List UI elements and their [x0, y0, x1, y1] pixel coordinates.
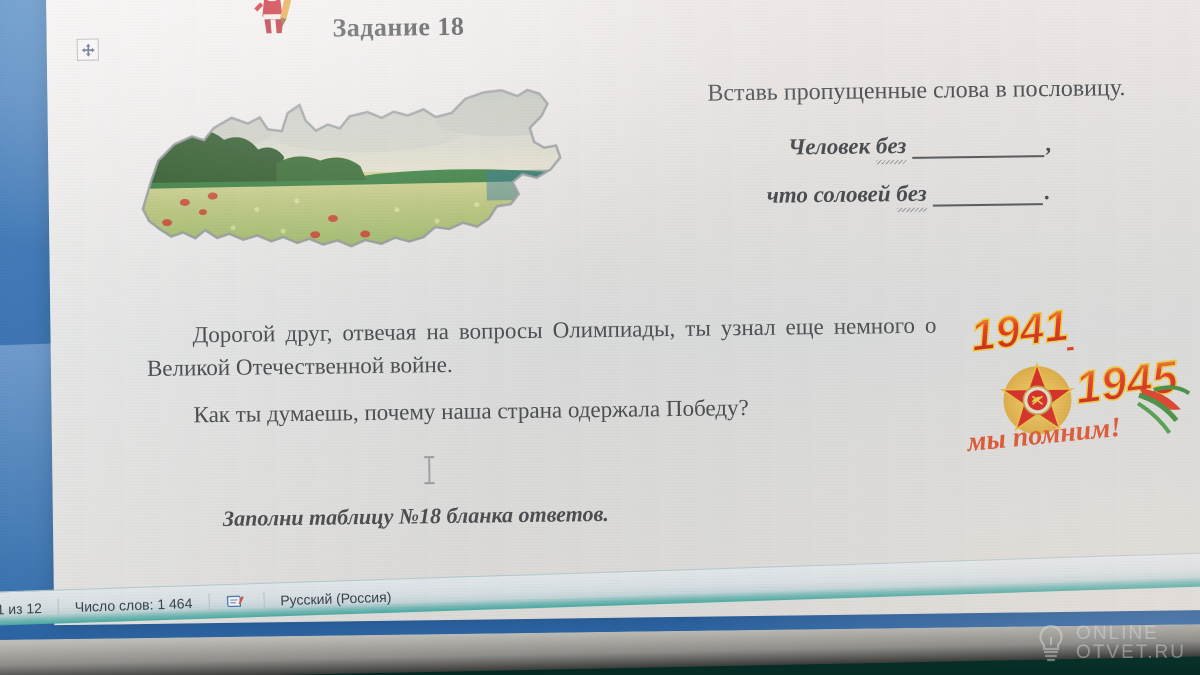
watermark: ONLINE OTVET.RU — [1034, 623, 1186, 663]
document-content: №17 бланка ответов. — [45, 0, 1200, 569]
proverb-line-2-prefix: что соловей — [767, 181, 891, 209]
watermark-text: ONLINE OTVET.RU — [1076, 624, 1186, 663]
proofing-status[interactable] — [209, 584, 264, 619]
language-indicator[interactable]: Русский (Россия) — [264, 579, 408, 617]
red-ant-with-pencil-icon — [242, 0, 307, 41]
proverb-blank-1[interactable] — [912, 140, 1044, 159]
spelling-check-icon — [225, 592, 248, 611]
proverb-line-2-word: без — [896, 181, 927, 207]
monitor-screen: №17 бланка ответов. — [0, 0, 1200, 640]
watermark-line-1: ONLINE — [1076, 624, 1186, 643]
page-title: Задание 18 — [332, 12, 464, 44]
proverb-line-1: Человек без , — [708, 129, 1200, 162]
watermark-line-2: OTVET.RU — [1076, 643, 1186, 662]
exercise-block: Вставь пропущенные слова в пословицу. Че… — [707, 74, 1200, 210]
victory-1941-1945-emblem[interactable]: 1941 - 1945 — [948, 296, 1200, 474]
paragraph-question: Как ты думаешь, почему наша страна одерж… — [147, 390, 937, 433]
text-cursor — [424, 456, 434, 484]
proverb-line-1-word: без — [876, 133, 907, 159]
screenshot-root: №17 бланка ответов. — [0, 0, 1200, 675]
russia-map-meadow-picture[interactable] — [135, 85, 567, 259]
proverb-line-2-punct: . — [1044, 179, 1050, 205]
paragraph-intro: Дорогой друг, отвечая на вопросы Олимпиа… — [146, 310, 937, 386]
proverb-line-1-punct: , — [1046, 131, 1052, 157]
svg-text:-: - — [1064, 331, 1076, 362]
exercise-instruction: Вставь пропущенные слова в пословицу. — [707, 74, 1200, 108]
word-count[interactable]: Число слов: 1 464 — [58, 586, 209, 624]
page-indicator[interactable]: 11 из 12 — [0, 591, 58, 627]
lightbulb-icon — [1034, 623, 1068, 663]
document-page[interactable]: №17 бланка ответов. — [45, 0, 1200, 625]
emblem-slogan: мы помним! — [965, 412, 1123, 458]
proverb-line-2: что соловей без . — [709, 177, 1200, 210]
proverb-line-1-prefix: Человек — [788, 133, 870, 160]
proverb-blank-2[interactable] — [933, 188, 1043, 206]
svg-text:1941: 1941 — [968, 301, 1071, 361]
move-arrows-icon — [80, 42, 95, 57]
paragraph-instruction: Заполни таблицу №18 бланка ответов. — [223, 495, 843, 534]
object-move-handle[interactable] — [77, 39, 99, 61]
